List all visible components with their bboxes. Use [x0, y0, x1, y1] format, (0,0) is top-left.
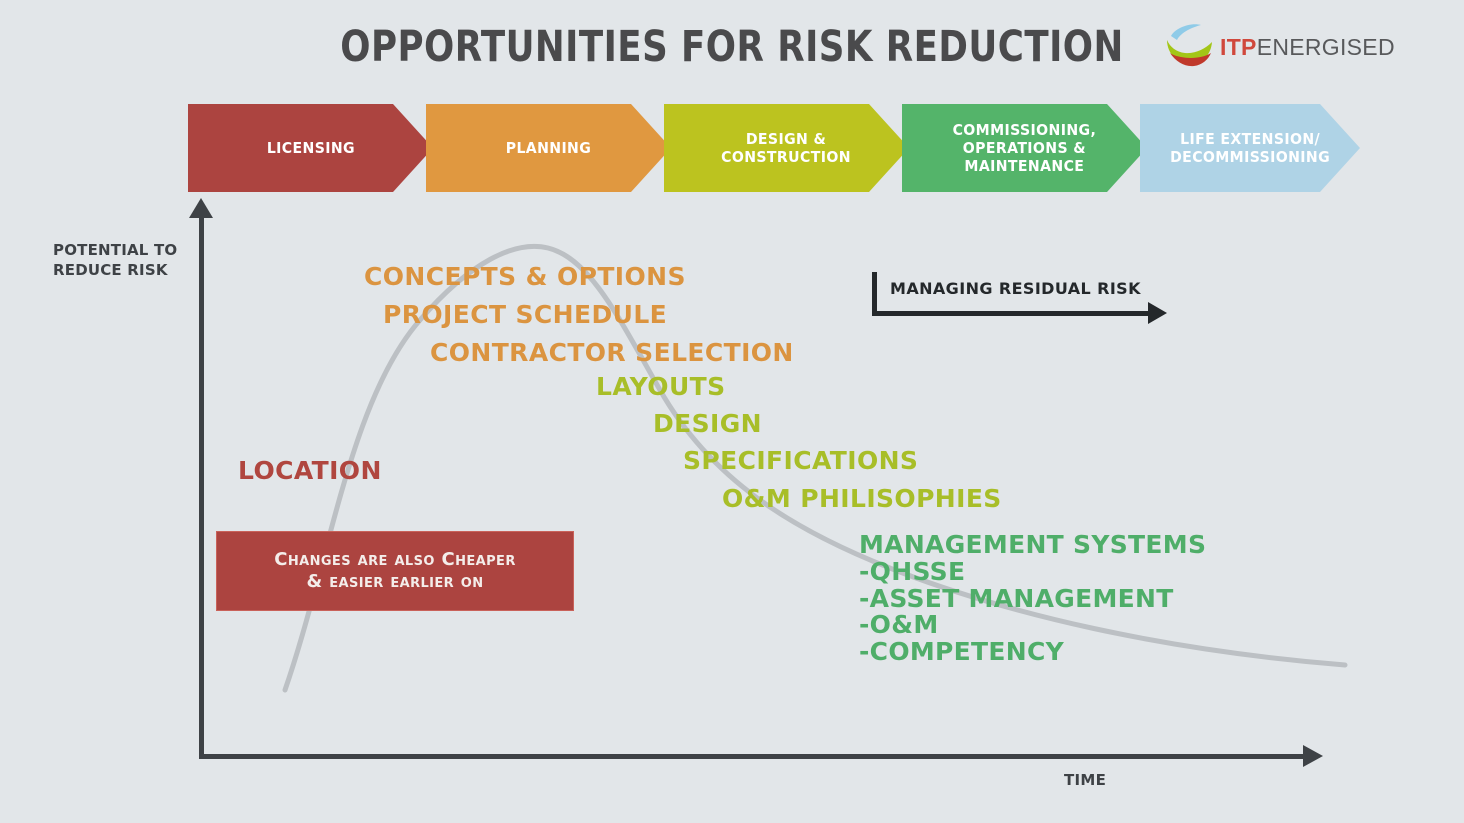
itpenergised-logo: ITPENERGISED [1165, 18, 1365, 76]
chevron-label-life-extension: LIFE EXTENSION/ DECOMMISSIONING [1159, 130, 1342, 167]
logo-mark-icon [1165, 22, 1215, 70]
label-asset-management: -ASSET MANAGEMENT [859, 586, 1206, 613]
residual-arrow-icon [1148, 302, 1167, 324]
x-axis-label: TIME [1064, 771, 1106, 789]
logo-wordmark: ITPENERGISED [1220, 34, 1395, 61]
process-chevron-bar: LICENSING PLANNING DESIGN & CONSTRUCTION… [188, 104, 1360, 192]
chevron-label-commissioning-line1: COMMISSIONING, [947, 121, 1102, 139]
chevron-label-commissioning: COMMISSIONING, OPERATIONS & MAINTENANCE [941, 121, 1107, 176]
chevron-label-commissioning-line2: OPERATIONS & [957, 139, 1091, 157]
label-competency: -COMPETENCY [859, 639, 1206, 666]
x-axis-line [199, 754, 1309, 759]
residual-bracket-vertical [872, 272, 877, 316]
chevron-stage-design-construction[interactable]: DESIGN & CONSTRUCTION [664, 104, 909, 192]
label-management-systems-heading: MANAGEMENT SYSTEMS [859, 532, 1206, 559]
label-management-systems-group: MANAGEMENT SYSTEMS -QHSSE -ASSET MANAGEM… [859, 532, 1206, 666]
residual-bracket-horizontal [872, 311, 1150, 316]
logo-text-energised: ENERGISED [1257, 34, 1395, 60]
managing-residual-risk-annotation: MANAGING RESIDUAL RISK [872, 272, 1172, 320]
label-concepts-options: CONCEPTS & OPTIONS [364, 262, 686, 291]
residual-risk-label: MANAGING RESIDUAL RISK [890, 279, 1141, 298]
chevron-stage-planning[interactable]: PLANNING [426, 104, 671, 192]
chevron-label-design-construction: DESIGN & CONSTRUCTION [710, 130, 862, 167]
label-om-philosophies: O&M PHILISOPHIES [722, 484, 1002, 513]
callout-text: Changes are also Cheaper & easier earlie… [274, 549, 516, 594]
label-location: LOCATION [238, 456, 382, 485]
label-design: DESIGN [653, 409, 762, 438]
chevron-label-life-line1: LIFE EXTENSION/ [1174, 130, 1325, 148]
label-specifications: SPECIFICATIONS [683, 446, 918, 475]
chevron-label-design-line1: DESIGN & [741, 130, 833, 148]
chevron-label-licensing: LICENSING [261, 139, 360, 157]
chevron-label-commissioning-line3: MAINTENANCE [959, 157, 1090, 175]
label-project-schedule: PROJECT SCHEDULE [383, 300, 667, 329]
slide-canvas: OPPORTUNITIES FOR RISK REDUCTION ITPENER… [0, 0, 1464, 823]
y-axis-line [199, 213, 204, 758]
callout-line2: & easier earlier on [306, 571, 483, 592]
chevron-stage-life-extension[interactable]: LIFE EXTENSION/ DECOMMISSIONING [1140, 104, 1360, 192]
y-axis-label: POTENTIAL TO REDUCE RISK [53, 240, 203, 281]
x-axis-arrow-icon [1303, 745, 1323, 767]
chevron-label-design-line2: CONSTRUCTION [716, 148, 857, 166]
logo-text-itp: ITP [1220, 34, 1257, 60]
chevron-label-planning: PLANNING [500, 139, 597, 157]
label-contractor-selection: CONTRACTOR SELECTION [430, 338, 794, 367]
y-axis-arrow-icon [189, 198, 213, 218]
label-layouts: LAYOUTS [596, 372, 726, 401]
callout-box-cheaper-earlier: Changes are also Cheaper & easier earlie… [216, 531, 574, 611]
callout-line1: Changes are also Cheaper [274, 549, 516, 570]
label-om: -O&M [859, 612, 1206, 639]
label-qhsse: -QHSSE [859, 559, 1206, 586]
chevron-label-life-line2: DECOMMISSIONING [1164, 148, 1335, 166]
chevron-stage-commissioning[interactable]: COMMISSIONING, OPERATIONS & MAINTENANCE [902, 104, 1147, 192]
chevron-stage-licensing[interactable]: LICENSING [188, 104, 433, 192]
